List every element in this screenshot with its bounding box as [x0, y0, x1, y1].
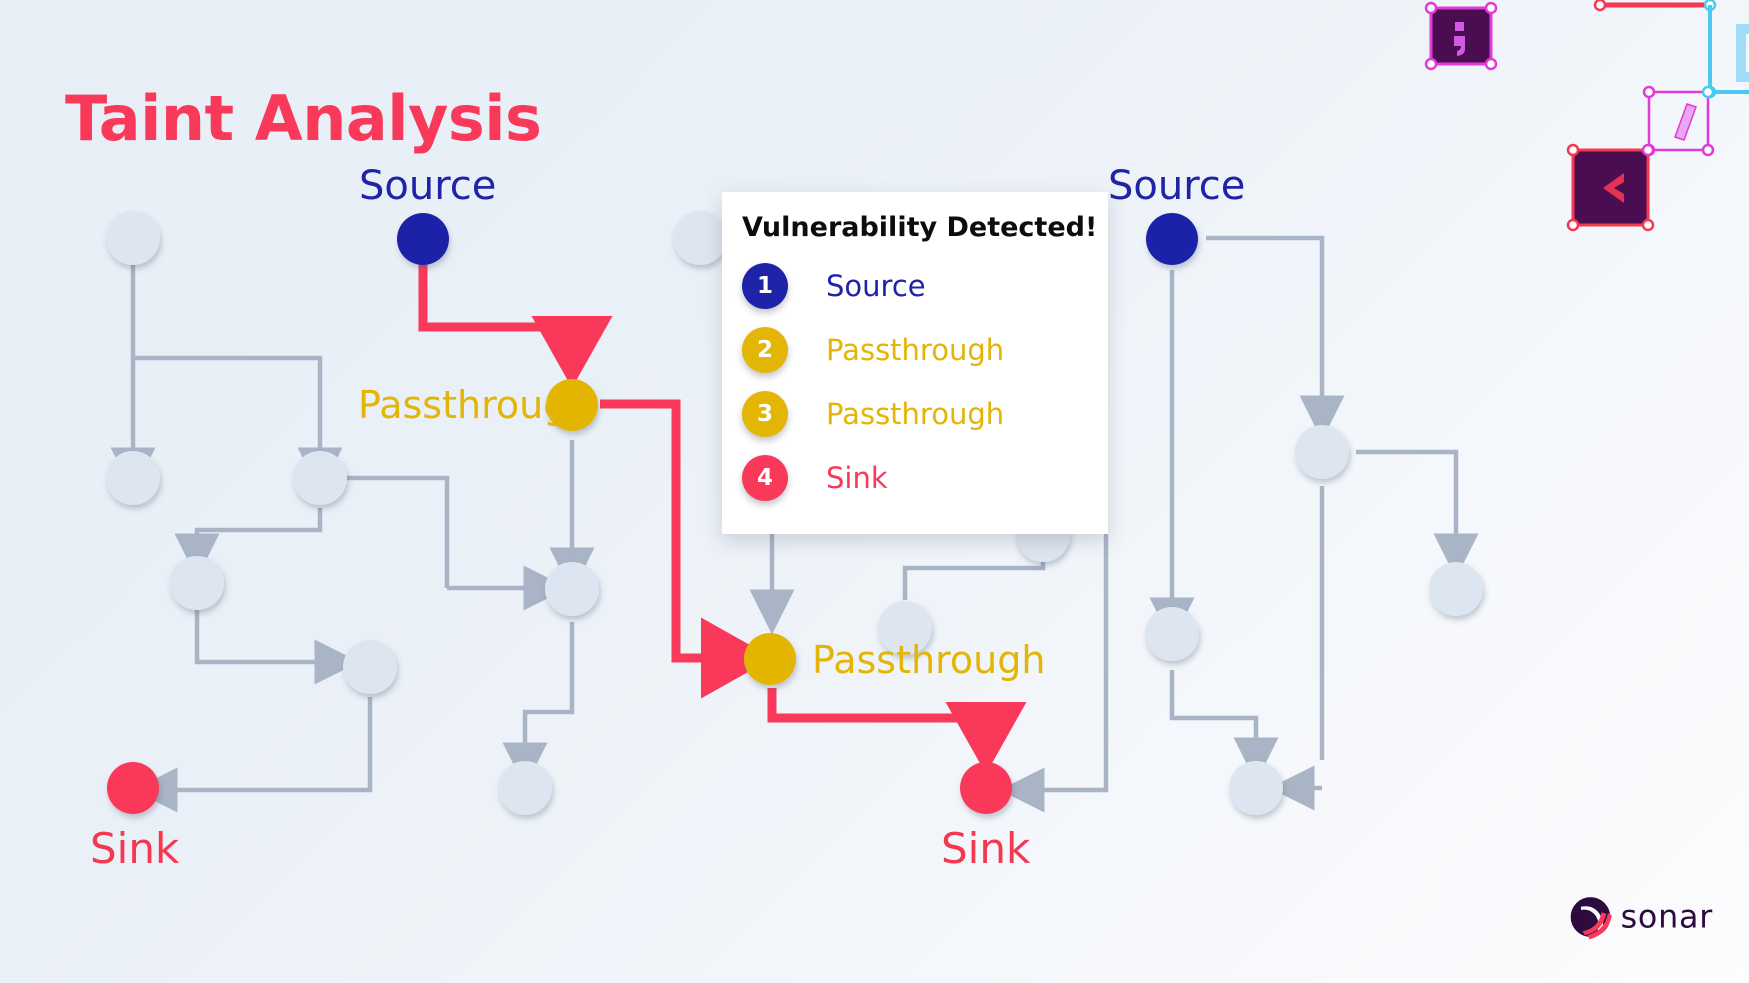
step-number-badge: 2	[742, 327, 788, 373]
callout-step-2[interactable]: 2 Passthrough	[742, 318, 1088, 382]
step-label: Source	[826, 269, 926, 303]
step-label: Sink	[826, 461, 888, 495]
passthrough-label-left: Passthrough	[358, 386, 591, 424]
vulnerability-callout: Vulnerability Detected! 1 Source 2 Passt…	[722, 192, 1108, 534]
node-sink-center	[960, 762, 1012, 814]
callout-step-3[interactable]: 3 Passthrough	[742, 382, 1088, 446]
step-label: Passthrough	[826, 333, 1004, 367]
source-label-left: Source	[359, 166, 496, 206]
sink-label-left: Sink	[90, 828, 179, 870]
callout-title: Vulnerability Detected!	[742, 212, 1097, 243]
callout-step-list: 1 Source 2 Passthrough 3 Passthrough 4 S…	[742, 254, 1088, 510]
slide-canvas: Taint Analysis Source Passthrough Passth…	[0, 0, 1749, 983]
step-number-badge: 3	[742, 391, 788, 437]
source-label-right: Source	[1108, 166, 1245, 206]
node-sink-left	[107, 762, 159, 814]
step-number-badge: 1	[742, 263, 788, 309]
node-source-left	[397, 213, 449, 265]
node-source-right	[1146, 213, 1198, 265]
sink-label-center: Sink	[941, 828, 1030, 870]
callout-step-4[interactable]: 4 Sink	[742, 446, 1088, 510]
passthrough-label-center: Passthrough	[812, 641, 1045, 679]
sonar-wordmark: sonar	[1621, 899, 1714, 935]
sonar-logo: sonar	[1566, 894, 1726, 940]
step-label: Passthrough	[826, 397, 1004, 431]
step-number-badge: 4	[742, 455, 788, 501]
sonar-mark-icon	[1571, 897, 1612, 939]
page-title: Taint Analysis	[65, 88, 541, 150]
callout-step-1[interactable]: 1 Source	[742, 254, 1088, 318]
node-passthrough-center	[744, 633, 796, 685]
